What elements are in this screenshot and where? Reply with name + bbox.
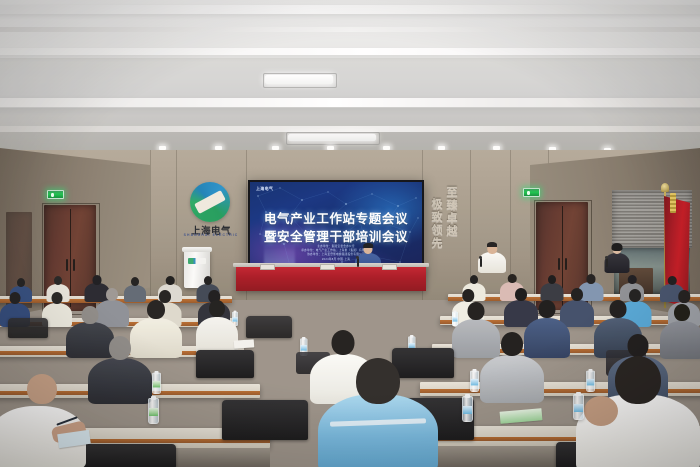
microphone [480, 258, 482, 267]
microphone-head [356, 256, 359, 259]
attendee-foreground-center [318, 358, 438, 467]
panelist-center [478, 243, 506, 270]
water-bottle[interactable] [573, 394, 584, 420]
nameplate [260, 264, 275, 270]
hand [584, 396, 618, 426]
water-bottle[interactable] [152, 373, 161, 394]
attendee [88, 336, 152, 398]
chair[interactable] [8, 318, 48, 338]
water-bottle[interactable] [470, 371, 479, 392]
chair[interactable] [222, 400, 308, 440]
microphone [606, 258, 608, 267]
chair[interactable] [196, 350, 254, 378]
attendee [196, 300, 238, 352]
chair[interactable] [246, 316, 292, 338]
water-bottle[interactable] [462, 396, 473, 422]
conference-room-photo: 上海电气 SHANGHAI ELECTRIC 至臻卓越 极致领先 [0, 0, 700, 467]
nameplate [382, 264, 397, 270]
microphone-head [479, 256, 482, 259]
microphone [357, 258, 359, 267]
attendee [480, 332, 544, 398]
water-bottle[interactable] [148, 398, 159, 424]
microphone-head [605, 256, 608, 259]
handout[interactable] [234, 339, 255, 348]
nameplate [320, 264, 335, 270]
